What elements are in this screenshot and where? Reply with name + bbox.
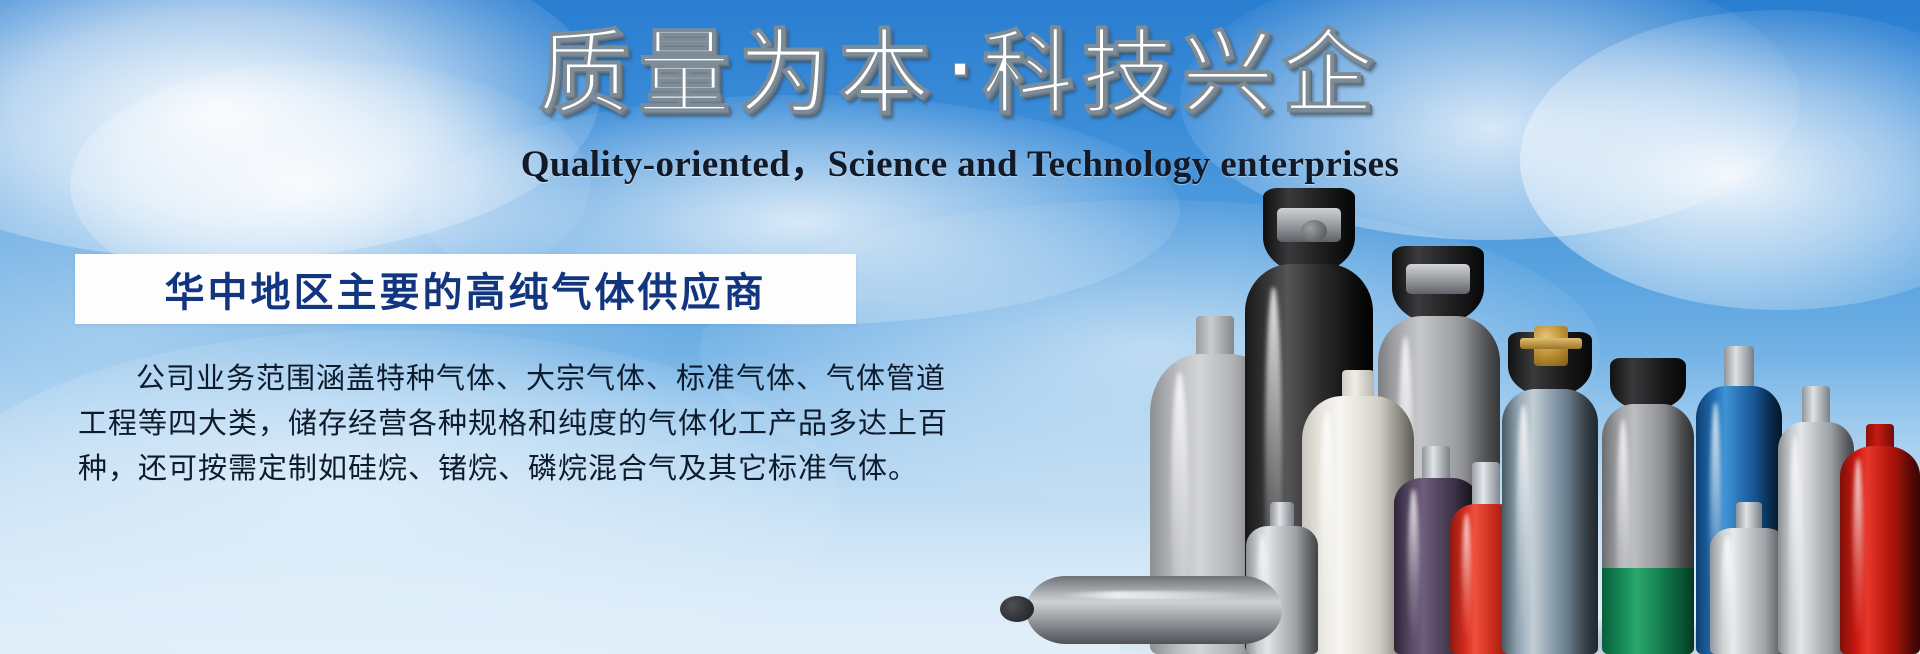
- headline-separator-dot: ·: [938, 33, 982, 106]
- cylinder-valve-knob: [1422, 446, 1450, 482]
- steel-blue-cylinder-brass-valve: [1502, 309, 1598, 654]
- cylinder-body: [1710, 528, 1788, 654]
- description-line-1: 公司业务范围涵盖特种气体、大宗气体、标准气体、气体管道: [78, 356, 868, 401]
- cylinder-valve-knob: [1301, 220, 1327, 242]
- cylinder-colour-band: [1502, 412, 1598, 464]
- description-line-2: 工程等四大类，储存经营各种规格和纯度的气体化工产品多达上百: [78, 401, 868, 446]
- cylinder-valve-knob: [1472, 462, 1500, 508]
- cylinder-valve-knob: [1000, 596, 1034, 622]
- cylinder-highlight: [1462, 513, 1472, 645]
- cylinder-highlight: [1722, 536, 1732, 647]
- promotional-banner: 质量为本·科技兴企 Quality-oriented，Science and T…: [0, 0, 1920, 654]
- banner-description: 公司业务范围涵盖特种气体、大宗气体、标准气体、气体管道 工程等四大类，储存经营各…: [78, 356, 868, 491]
- cylinder-body: [1840, 446, 1920, 654]
- cylinder-green-base: [1602, 568, 1694, 654]
- cylinder-shading: [1896, 446, 1920, 654]
- cylinder-highlight: [1853, 458, 1863, 641]
- cylinder-highlight: [1408, 489, 1419, 644]
- tall-red-cylinder: [1840, 409, 1920, 654]
- short-aluminium-cylinder: [1710, 504, 1788, 654]
- horizontal-grey-cylinder: [1000, 568, 1300, 652]
- cylinder-neck: [1196, 316, 1234, 358]
- brass-valve-icon: [1534, 326, 1568, 366]
- highlight-callout-text: 华中地区主要的高纯气体供应商: [165, 260, 767, 318]
- cylinder-valve-knob: [1802, 386, 1830, 426]
- gas-cylinder-photo-group: [1150, 0, 1920, 654]
- cylinder-body: [1602, 404, 1694, 654]
- highlight-callout-box: 华中地区主要的高纯气体供应商: [75, 254, 856, 324]
- cylinder-guard-cap: [1610, 358, 1686, 410]
- cylinder-highlight: [1790, 436, 1800, 640]
- description-line-3: 种，还可按需定制如硅烷、锗烷、磷烷混合气及其它标准气体。: [78, 446, 868, 491]
- cylinder-valve-knob: [1724, 346, 1754, 390]
- cylinder-guard-cap: [1392, 246, 1484, 324]
- headline-left-phrase: 质量为本: [538, 20, 938, 127]
- cylinder-highlight: [1320, 411, 1335, 638]
- cylinder-body: [1026, 576, 1282, 644]
- green-base-cylinder: [1602, 354, 1694, 654]
